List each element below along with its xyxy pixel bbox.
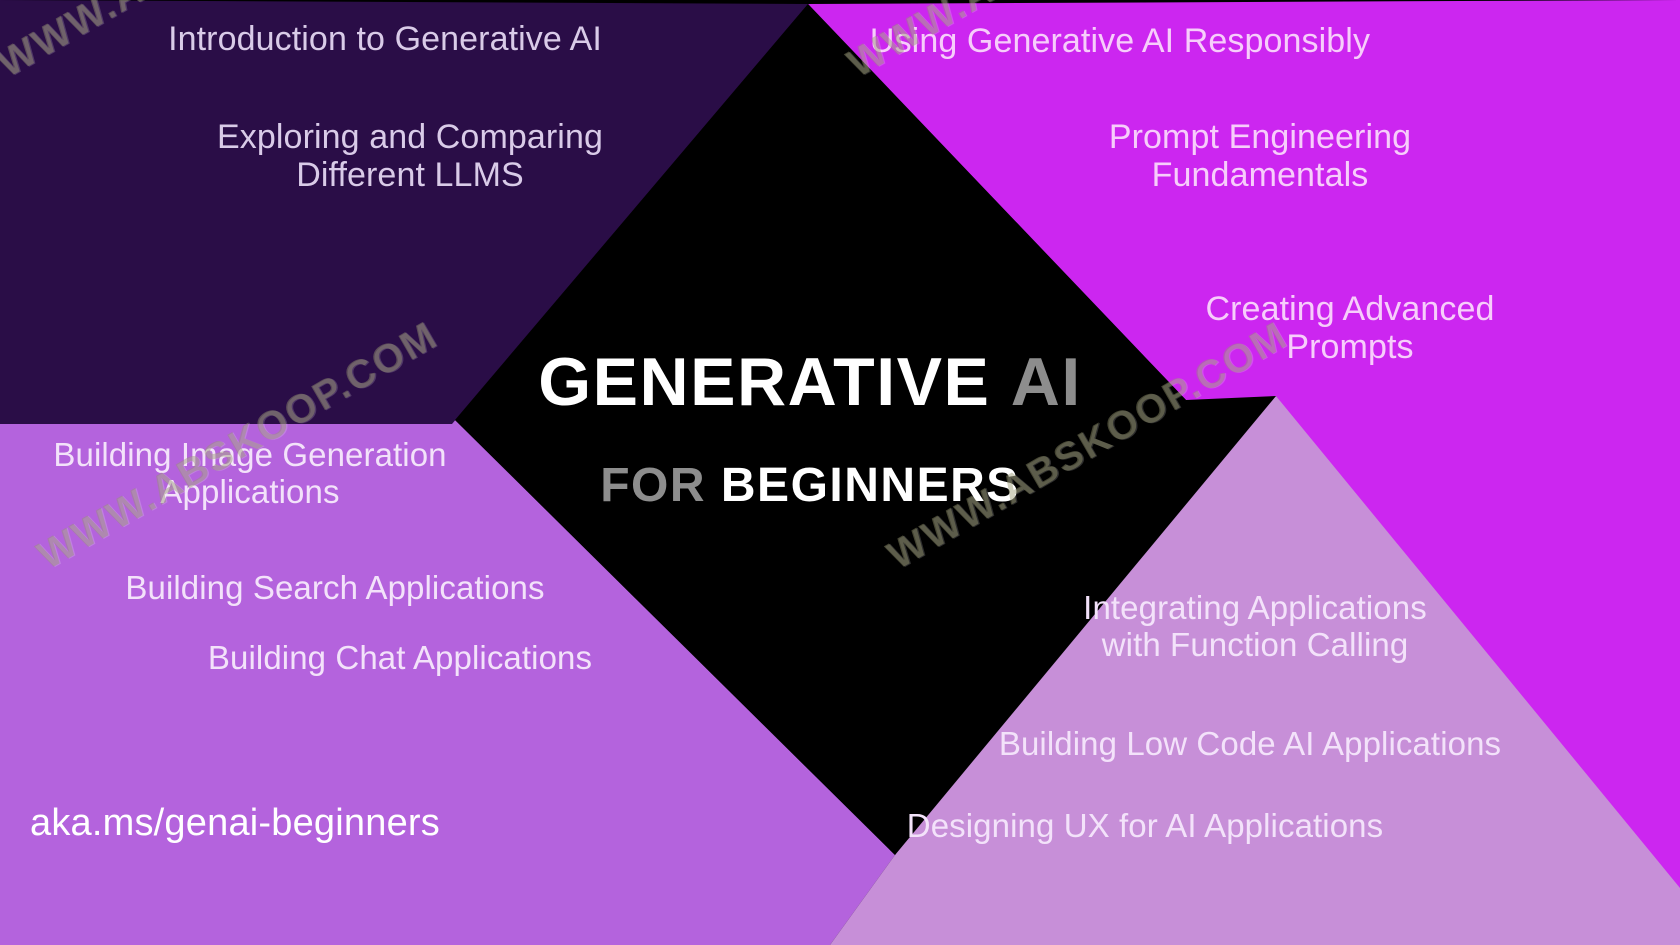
module-label-function-calling: Integrating Applications with Function C… [970,590,1540,664]
module-label-exploring-llms: Exploring and Comparing Different LLMS [100,118,720,194]
module-label-search-applications: Building Search Applications [40,570,630,607]
module-label-chat-applications: Building Chat Applications [110,640,690,677]
module-label-responsible-ai: Using Generative AI Responsibly [810,22,1430,60]
poster-canvas: Introduction to Generative AI Exploring … [0,0,1680,945]
module-label-advanced-prompts: Creating Advanced Prompts [1140,290,1560,366]
footer-shortlink[interactable]: aka.ms/genai-beginners [30,802,440,845]
module-label-low-code: Building Low Code AI Applications [930,726,1570,763]
module-label-image-generation: Building Image Generation Applications [0,437,500,511]
module-label-prompt-engineering: Prompt Engineering Fundamentals [1000,118,1520,194]
module-label-designing-ux: Designing UX for AI Applications [845,808,1445,845]
module-label-introduction: Introduction to Generative AI [105,20,665,58]
